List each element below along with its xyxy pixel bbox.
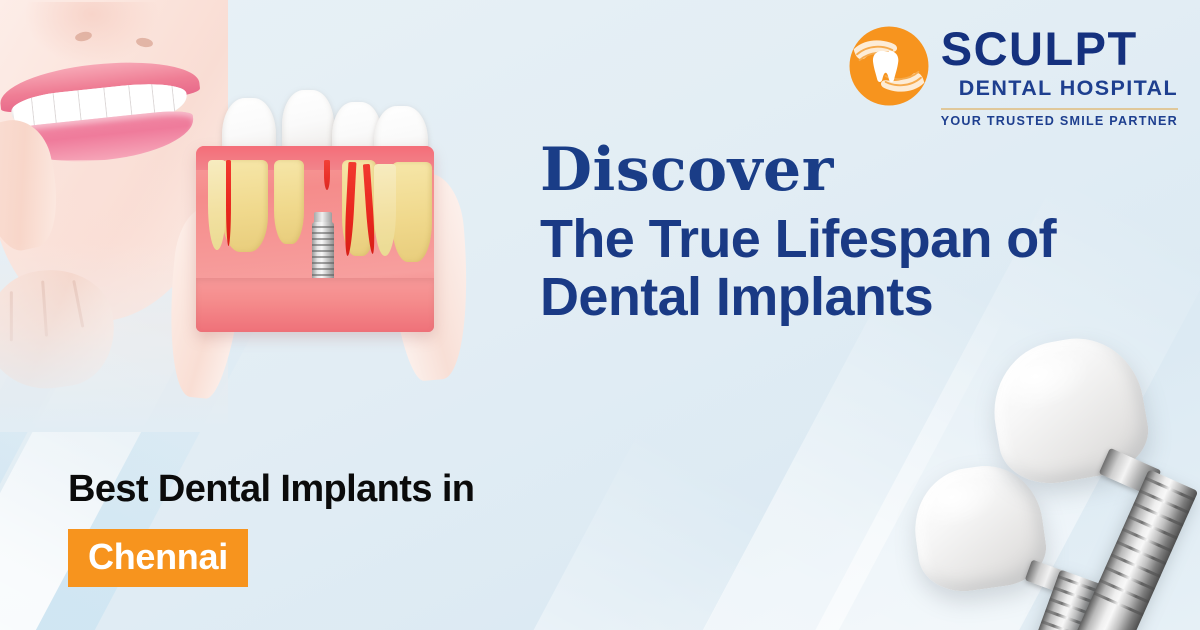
gum-block bbox=[196, 146, 434, 332]
tooth-root bbox=[374, 164, 396, 256]
bone-segment bbox=[274, 160, 304, 244]
headline-block: Discover The True Lifespan of Dental Imp… bbox=[540, 140, 1170, 327]
bone-segment bbox=[392, 162, 432, 262]
logo-wordmark: SCULPT DENTAL HOSPITAL YOUR TRUSTED SMIL… bbox=[941, 22, 1178, 128]
dental-implant-cross-section-model bbox=[178, 88, 460, 380]
headline-line-1: The True Lifespan of bbox=[540, 210, 1170, 268]
hands-cradling-tooth-icon bbox=[847, 24, 931, 108]
brand-logo[interactable]: SCULPT DENTAL HOSPITAL YOUR TRUSTED SMIL… bbox=[847, 22, 1178, 128]
nose bbox=[26, 2, 158, 64]
headline-script-word: Discover bbox=[540, 140, 1170, 200]
headline-line-2: Dental Implants bbox=[540, 268, 1170, 326]
brand-tagline: YOUR TRUSTED SMILE PARTNER bbox=[941, 114, 1178, 128]
subheadline-title: Best Dental Implants in bbox=[68, 468, 474, 511]
location-badge: Chennai bbox=[68, 529, 248, 587]
root-canal bbox=[226, 160, 231, 246]
tooth-root bbox=[208, 160, 226, 250]
dental-implant-screw-front bbox=[990, 340, 1200, 630]
root-canal bbox=[324, 160, 330, 190]
gum-base bbox=[196, 278, 434, 332]
logo-divider bbox=[941, 108, 1178, 110]
brand-name: SCULPT bbox=[941, 26, 1178, 72]
dental-implant-promo-banner: SCULPT DENTAL HOSPITAL YOUR TRUSTED SMIL… bbox=[0, 0, 1200, 630]
subheadline-block: Best Dental Implants in Chennai bbox=[68, 468, 474, 587]
brand-subtitle: DENTAL HOSPITAL bbox=[941, 76, 1178, 101]
implant-shaft bbox=[1072, 469, 1199, 630]
